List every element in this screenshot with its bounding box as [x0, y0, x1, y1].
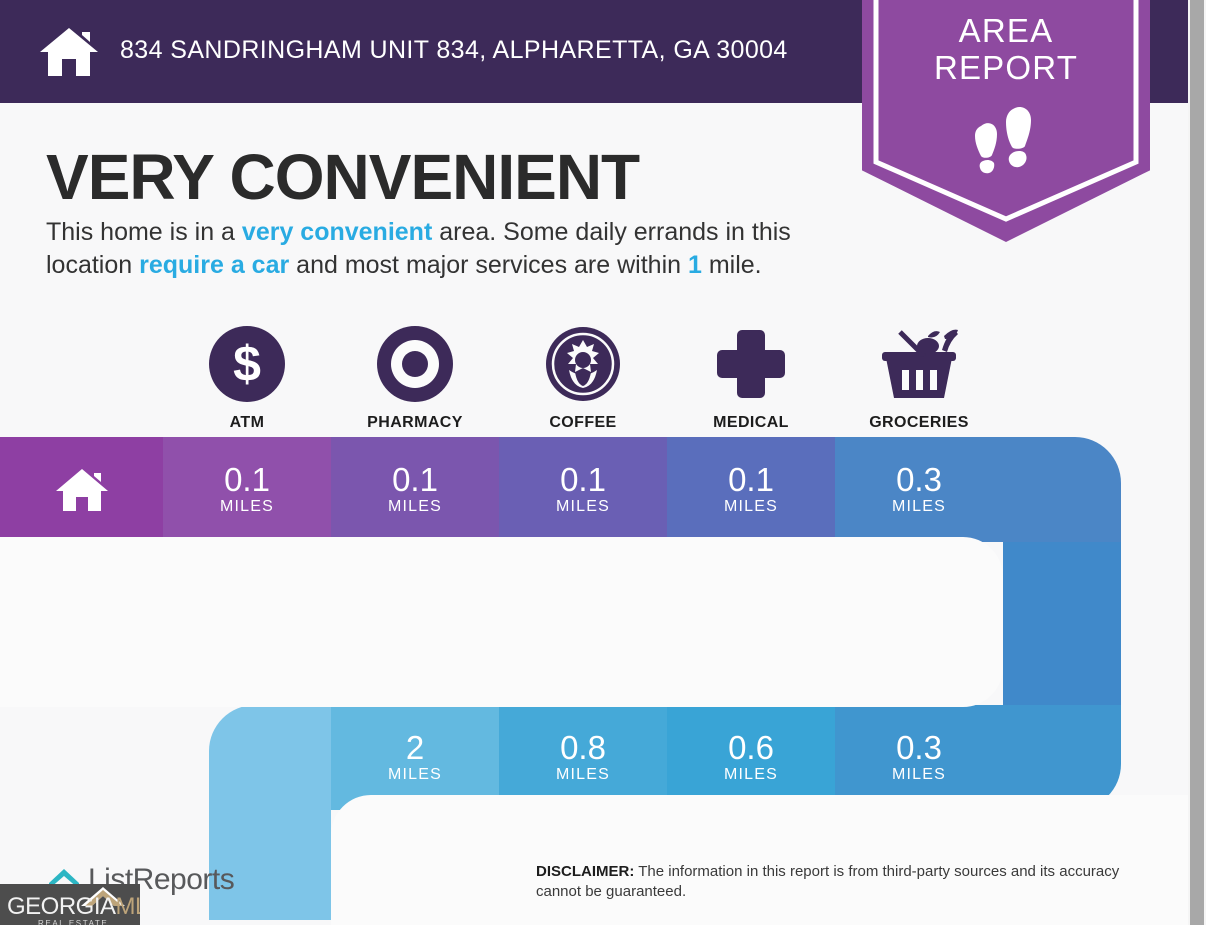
distance-cell-coffee: 0.1 MILES: [499, 437, 667, 542]
distance-value: 0.3: [896, 463, 942, 497]
badge-label: AREA REPORT: [862, 12, 1150, 86]
starbucks-logo-icon: [499, 322, 667, 406]
subtext-part-0: This home is in a: [46, 218, 242, 246]
grocery-basket-icon: [835, 322, 1003, 406]
mls-tagline: REAL ESTATE SERVICES: [38, 919, 140, 925]
distance-unit: MILES: [724, 766, 778, 784]
footprints-icon: [971, 104, 1041, 184]
ribbon-white-gap-upper: [0, 537, 1003, 707]
ribbon-white-gap-lower: [331, 795, 1188, 925]
poi-medical: MEDICAL: [667, 322, 835, 432]
headline-subtext: This home is in a very convenient area. …: [46, 216, 856, 282]
badge-line-1: AREA: [862, 12, 1150, 49]
subtext-part-6: mile.: [702, 251, 762, 279]
page-title: 834 SANDRINGHAM UNIT 834, ALPHARETTA, GA…: [120, 36, 788, 65]
ribbon-corner-row2-left: [209, 705, 331, 810]
distance-cell-pharmacy: 0.1 MILES: [331, 437, 499, 542]
ribbon-right-vertical: [1003, 542, 1121, 705]
target-logo-icon: [331, 322, 499, 406]
distance-unit: MILES: [892, 766, 946, 784]
distance-value: 0.3: [896, 731, 942, 765]
distance-ribbon: 0.1 MILES 0.1 MILES 0.1 MILES 0.1 MILES …: [0, 437, 1188, 857]
poi-pharmacy: PHARMACY: [331, 322, 499, 432]
distance-value: 0.8: [560, 731, 606, 765]
poi-label: MEDICAL: [667, 414, 835, 432]
poi-atm: $ ATM: [163, 322, 331, 432]
poi-groceries: GROCERIES: [835, 322, 1003, 432]
scrollbar-thumb[interactable]: [1190, 0, 1204, 925]
distance-cell-groceries: 0.3 MILES: [835, 437, 1003, 542]
area-report-badge: AREA REPORT: [862, 0, 1150, 242]
ribbon-home-cell: [0, 437, 163, 542]
distance-value: 0.1: [728, 463, 774, 497]
poi-label: GROCERIES: [835, 414, 1003, 432]
poi-label: ATM: [163, 414, 331, 432]
distance-unit: MILES: [556, 766, 610, 784]
distance-unit: MILES: [220, 498, 274, 516]
distance-unit: MILES: [724, 498, 778, 516]
home-icon: [38, 26, 100, 78]
svg-text:$: $: [233, 336, 261, 392]
distance-unit: MILES: [892, 498, 946, 516]
headline-title: VERY CONVENIENT: [46, 140, 639, 214]
mls-name: GEORGIAMLS: [7, 893, 140, 921]
poi-coffee: COFFEE: [499, 322, 667, 432]
distance-value: 0.1: [560, 463, 606, 497]
subtext-part-1: very convenient: [242, 218, 432, 246]
disclaimer-label: DISCLAIMER:: [536, 863, 634, 880]
mls-secondary: MLS: [116, 893, 140, 920]
distance-value: 2: [406, 731, 424, 765]
subtext-part-3: require a car: [139, 251, 289, 279]
subtext-part-4: and most major services are within: [289, 251, 688, 279]
distance-unit: MILES: [388, 766, 442, 784]
ribbon-corner-top-right: [1003, 437, 1121, 542]
badge-line-2: REPORT: [862, 49, 1150, 86]
poi-label: PHARMACY: [331, 414, 499, 432]
dollar-circle-icon: $: [163, 322, 331, 406]
subtext-part-5: 1: [688, 251, 702, 279]
distance-cell-atm: 0.1 MILES: [163, 437, 331, 542]
distance-cell-medical: 0.1 MILES: [667, 437, 835, 542]
report-page: 834 SANDRINGHAM UNIT 834, ALPHARETTA, GA…: [0, 0, 1188, 925]
home-icon: [54, 467, 110, 513]
distance-value: 0.6: [728, 731, 774, 765]
distance-unit: MILES: [388, 498, 442, 516]
distance-value: 0.1: [392, 463, 438, 497]
mls-primary: GEORGIA: [7, 893, 116, 920]
poi-label: COFFEE: [499, 414, 667, 432]
georgia-mls-watermark: GEORGIAMLS REAL ESTATE SERVICES: [0, 884, 140, 925]
distance-value: 0.1: [224, 463, 270, 497]
medical-cross-icon: [667, 322, 835, 406]
distance-unit: MILES: [556, 498, 610, 516]
disclaimer: DISCLAIMER: The information in this repo…: [536, 862, 1166, 902]
